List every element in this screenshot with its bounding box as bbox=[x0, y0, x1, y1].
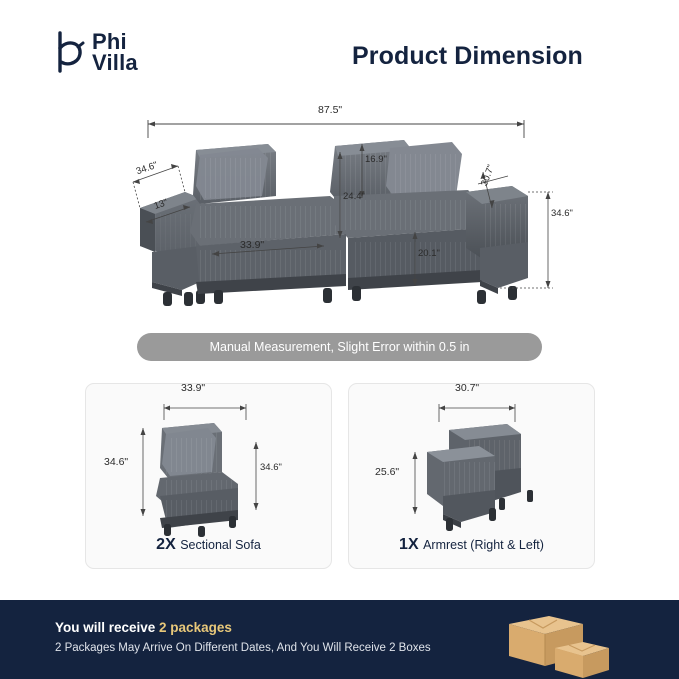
phi-villa-logo-icon bbox=[55, 31, 85, 73]
dim-back-cushion-height: 16.9" bbox=[365, 154, 387, 165]
armrest-illustration bbox=[349, 390, 594, 540]
brand-line-2: Villa bbox=[92, 52, 138, 73]
card-armrest: 30.7" 25.6" 1X Armrest (Right & Left) bbox=[348, 383, 595, 569]
footer-subtext: 2 Packages May Arrive On Different Dates… bbox=[55, 642, 431, 654]
page-footer: You will receive 2 packages 2 Packages M… bbox=[0, 600, 679, 679]
footer-headline-prefix: You will receive bbox=[55, 620, 159, 635]
measurement-note-banner: Manual Measurement, Slight Error within … bbox=[137, 333, 542, 361]
card1-dim-top: 33.9" bbox=[181, 382, 205, 394]
page-title: Product Dimension bbox=[352, 42, 583, 71]
card2-label: Armrest (Right & Left) bbox=[423, 538, 544, 552]
card1-dim-right: 34.6" bbox=[260, 462, 282, 473]
dim-total-width: 87.5" bbox=[318, 104, 342, 116]
footer-headline-accent: 2 packages bbox=[159, 620, 232, 635]
product-dimension-page: Phi Villa Product Dimension bbox=[0, 0, 679, 679]
card-sectional-sofa-caption: 2X Sectional Sofa bbox=[86, 536, 331, 554]
dim-seat-height: 20.1" bbox=[418, 248, 440, 259]
main-product-diagram: 87.5" 34.6" 13" 16.9" 24.4" 30.7" 34.6" … bbox=[0, 100, 679, 325]
card1-label: Sectional Sofa bbox=[180, 538, 261, 552]
dim-seat-back-height: 24.4" bbox=[343, 191, 365, 202]
card1-dim-left: 34.6" bbox=[104, 456, 128, 468]
page-header: Phi Villa Product Dimension bbox=[0, 0, 679, 104]
brand-name: Phi Villa bbox=[92, 31, 138, 73]
sofa-illustration bbox=[0, 100, 679, 325]
brand-line-1: Phi bbox=[92, 31, 138, 52]
card2-dim-top: 30.7" bbox=[455, 382, 479, 394]
cardboard-boxes-icon bbox=[497, 608, 617, 679]
card2-qty: 1X bbox=[399, 536, 419, 553]
card1-qty: 2X bbox=[156, 536, 176, 553]
card2-dim-left: 25.6" bbox=[375, 466, 399, 478]
measurement-note-text: Manual Measurement, Slight Error within … bbox=[210, 340, 470, 354]
footer-headline: You will receive 2 packages bbox=[55, 620, 232, 635]
card-armrest-caption: 1X Armrest (Right & Left) bbox=[349, 536, 594, 554]
dim-total-height-right: 34.6" bbox=[551, 208, 573, 219]
card-sectional-sofa: 33.9" 34.6" 34.6" 2X Sectional Sofa bbox=[85, 383, 332, 569]
dim-seat-width: 33.9" bbox=[240, 239, 264, 251]
brand-logo: Phi Villa bbox=[55, 31, 138, 73]
